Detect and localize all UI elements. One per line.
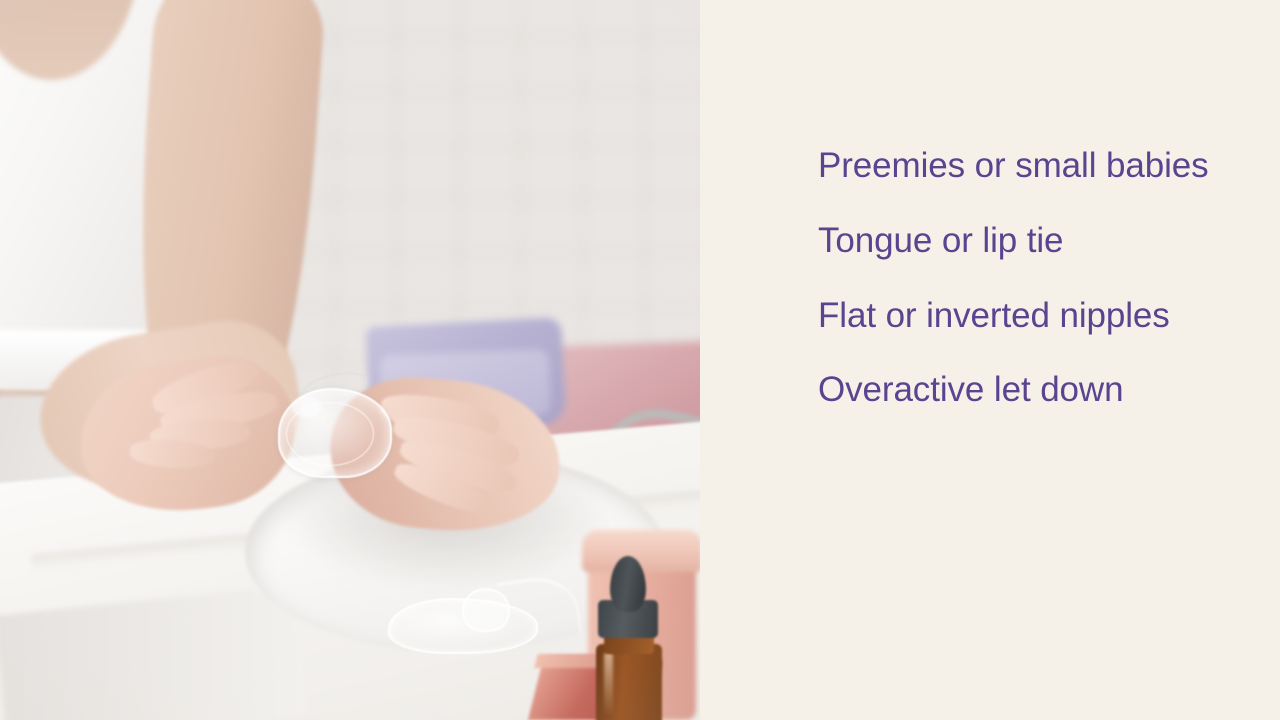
bottle-highlight: [604, 652, 613, 716]
slide-root: Preemies or small babies Tongue or lip t…: [0, 0, 1280, 720]
text-panel: Preemies or small babies Tongue or lip t…: [700, 0, 1280, 720]
bullet-list: Preemies or small babies Tongue or lip t…: [818, 144, 1218, 413]
lifestyle-photo: [0, 0, 700, 720]
bullet-item-3: Flat or inverted nipples: [818, 294, 1218, 339]
bullet-item-4: Overactive let down: [818, 368, 1218, 413]
photo-stage: [0, 0, 700, 720]
bullet-item-1: Preemies or small babies: [818, 144, 1218, 189]
bullet-item-2: Tongue or lip tie: [818, 219, 1218, 264]
nipple-shield-tip: [292, 396, 322, 418]
